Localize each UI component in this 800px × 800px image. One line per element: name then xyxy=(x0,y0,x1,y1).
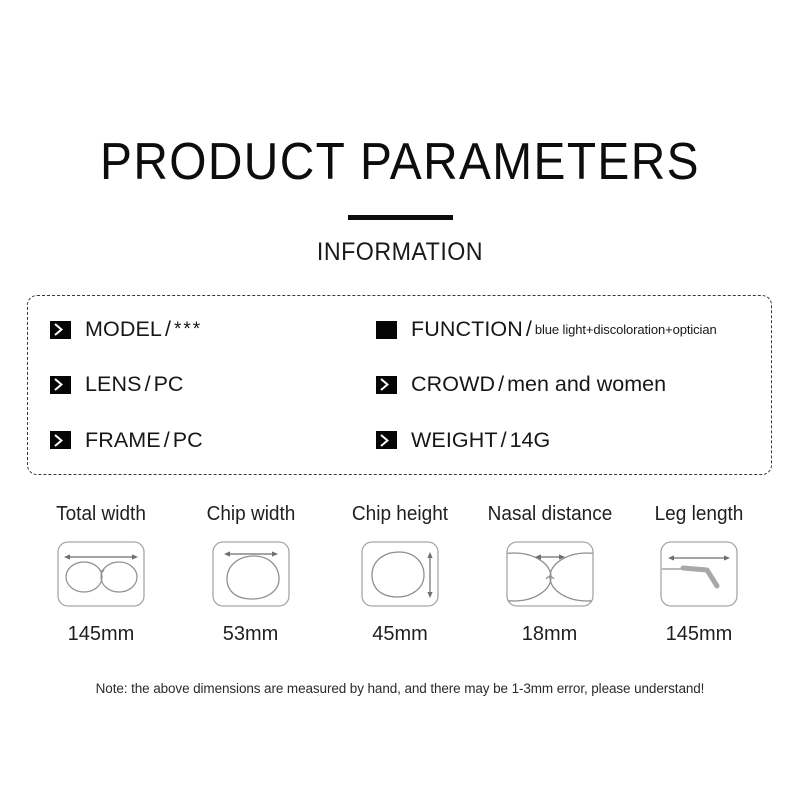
dimension-label: Chip height xyxy=(333,503,468,526)
spec-value-weight: 14G xyxy=(510,428,551,453)
dimension-value: 145mm xyxy=(30,623,172,646)
spec-separator: / xyxy=(495,372,507,397)
lens-width-icon xyxy=(205,539,297,609)
spec-separator: / xyxy=(142,372,154,397)
spec-label-function: FUNCTION xyxy=(411,317,523,342)
spec-row-function: FUNCTION / blue light+discoloration+opti… xyxy=(368,317,771,342)
spec-label-crowd: CROWD xyxy=(411,372,495,397)
chevron-right-glyph xyxy=(54,434,63,447)
lens-height-icon xyxy=(354,539,446,609)
dimension-value: 45mm xyxy=(329,623,471,646)
dimension-chip-height: Chip height 45mm xyxy=(329,503,471,646)
spec-row-frame: FRAME / PC xyxy=(28,428,368,453)
chevron-right-glyph xyxy=(54,378,63,391)
dimension-label: Leg length xyxy=(632,503,767,526)
spec-separator: / xyxy=(523,317,535,342)
spec-row-model: MODEL / *** xyxy=(28,317,368,342)
spec-separator: / xyxy=(498,428,510,453)
dimension-label: Nasal distance xyxy=(482,503,617,526)
dimension-leg-length: Leg length 145mm xyxy=(628,503,770,646)
chevron-right-icon xyxy=(50,431,71,449)
chevron-right-icon xyxy=(50,321,71,339)
spec-value-model: *** xyxy=(174,319,202,341)
spec-label-lens: LENS xyxy=(85,372,142,397)
chevron-right-glyph xyxy=(54,323,63,336)
page-title: PRODUCT PARAMETERS xyxy=(32,0,768,188)
temple-length-icon xyxy=(653,539,745,609)
dimension-value: 145mm xyxy=(628,623,770,646)
specifications-panel: MODEL / *** FUNCTION / blue light+discol… xyxy=(27,295,772,475)
dimensions-row: Total width 145mm Chip width 53mm Chip h… xyxy=(30,503,770,646)
dimension-chip-width: Chip width 53mm xyxy=(180,503,322,646)
spec-row-crowd: CROWD / men and women xyxy=(368,372,771,397)
dimension-value: 53mm xyxy=(180,623,322,646)
glasses-total-width-icon xyxy=(55,539,147,609)
page-subtitle: INFORMATION xyxy=(28,220,772,267)
dimension-label: Total width xyxy=(34,503,169,526)
spec-row-lens: LENS / PC xyxy=(28,372,368,397)
spec-separator: / xyxy=(162,317,174,342)
spec-value-frame: PC xyxy=(173,428,203,453)
chevron-right-icon xyxy=(376,376,397,394)
bridge-distance-icon xyxy=(504,539,596,609)
spec-label-weight: WEIGHT xyxy=(411,428,498,453)
solid-square-icon xyxy=(376,321,397,339)
chevron-right-icon xyxy=(50,376,71,394)
spec-value-lens: PC xyxy=(154,372,184,397)
specifications-grid: MODEL / *** FUNCTION / blue light+discol… xyxy=(28,296,771,474)
dimension-label: Chip width xyxy=(183,503,318,526)
footer-note: Note: the above dimensions are measured … xyxy=(0,681,800,696)
spec-value-crowd: men and women xyxy=(507,372,666,397)
spec-row-weight: WEIGHT / 14G xyxy=(368,428,771,453)
chevron-right-glyph xyxy=(380,434,389,447)
spec-separator: / xyxy=(161,428,173,453)
header: PRODUCT PARAMETERS INFORMATION xyxy=(0,0,800,267)
dimension-value: 18mm xyxy=(479,623,621,646)
spec-label-model: MODEL xyxy=(85,317,162,342)
chevron-right-glyph xyxy=(380,378,389,391)
spec-value-function: blue light+discoloration+optician xyxy=(535,322,717,337)
spec-label-frame: FRAME xyxy=(85,428,161,453)
chevron-right-icon xyxy=(376,431,397,449)
dimension-total-width: Total width 145mm xyxy=(30,503,172,646)
dimension-nasal-distance: Nasal distance 18mm xyxy=(479,503,621,646)
